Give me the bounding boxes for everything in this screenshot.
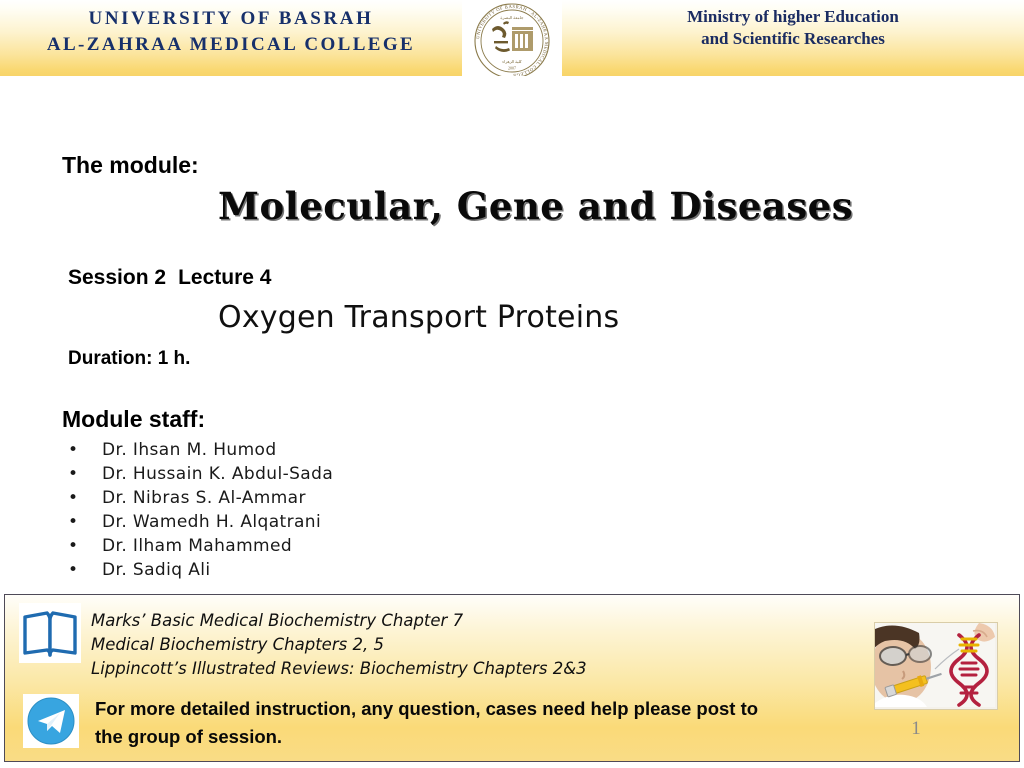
bullet-icon: • (68, 438, 78, 462)
college-seal: جامعة البصرة كلية الزهراء 2007 UNIVERSIT… (462, 0, 562, 82)
ministry-name-line2: and Scientific Researches (562, 28, 1024, 50)
list-item: •Dr. Ilham Mahammed (62, 534, 333, 558)
staff-name: Dr. Wamedh H. Alqatrani (102, 512, 321, 532)
lecture-title: Oxygen Transport Proteins (218, 300, 619, 335)
scientist-dna-photo (874, 622, 998, 710)
bullet-icon: • (68, 558, 78, 582)
module-label: The module: (62, 152, 199, 179)
ministry-name: Ministry of higher Education and Scienti… (562, 6, 1024, 50)
slide-body: The module: Molecular, Gene and Diseases… (0, 76, 1024, 594)
duration-text: Duration: 1 h. (68, 348, 190, 370)
university-name: UNIVERSITY OF BASRAH AL-ZAHRAA MEDICAL C… (0, 6, 462, 58)
bullet-icon: • (68, 510, 78, 534)
notice-line1: For more detailed instruction, any quest… (95, 695, 758, 723)
telegram-icon[interactable] (23, 694, 79, 748)
bullet-icon: • (68, 486, 78, 510)
module-title: Molecular, Gene and Diseases (218, 184, 853, 228)
session-number: Session 2 (68, 266, 166, 289)
ministry-name-line1: Ministry of higher Education (562, 6, 1024, 28)
college-seal-icon: جامعة البصرة كلية الزهراء 2007 UNIVERSIT… (472, 1, 552, 81)
list-item: •Dr. Nibras S. Al-Ammar (62, 486, 333, 510)
reference-item: Medical Biochemistry Chapters 2, 5 (91, 633, 587, 657)
staff-name: Dr. Ihsan M. Humod (102, 440, 277, 460)
list-item: •Dr. Sadiq Ali (62, 558, 333, 582)
slide-footer: Marks’ Basic Medical Biochemistry Chapte… (4, 594, 1020, 762)
reference-list: Marks’ Basic Medical Biochemistry Chapte… (91, 609, 587, 681)
svg-text:جامعة البصرة: جامعة البصرة (500, 15, 524, 20)
university-name-line2: AL-ZAHRAA MEDICAL COLLEGE (0, 32, 462, 58)
reference-item: Lippincott’s Illustrated Reviews: Bioche… (91, 657, 587, 681)
slide-number: 1 (896, 718, 936, 740)
module-staff-list: •Dr. Ihsan M. Humod •Dr. Hussain K. Abdu… (62, 438, 333, 582)
session-lecture-line: Session 2Lecture 4 (68, 266, 271, 290)
svg-text:2007: 2007 (508, 66, 516, 71)
list-item: •Dr. Ihsan M. Humod (62, 438, 333, 462)
staff-name: Dr. Ilham Mahammed (102, 536, 292, 556)
university-name-line1: UNIVERSITY OF BASRAH (0, 6, 462, 32)
bullet-icon: • (68, 462, 78, 486)
list-item: •Dr. Hussain K. Abdul-Sada (62, 462, 333, 486)
slide-header: UNIVERSITY OF BASRAH AL-ZAHRAA MEDICAL C… (0, 0, 1024, 76)
bullet-icon: • (68, 534, 78, 558)
notice-line2: the group of session. (95, 723, 758, 751)
reference-item: Marks’ Basic Medical Biochemistry Chapte… (91, 609, 587, 633)
module-staff-heading: Module staff: (62, 406, 205, 433)
lecture-number: Lecture 4 (178, 266, 271, 289)
staff-name: Dr. Nibras S. Al-Ammar (102, 488, 306, 508)
staff-name: Dr. Hussain K. Abdul-Sada (102, 464, 333, 484)
open-book-icon (19, 603, 81, 663)
notice-text: For more detailed instruction, any quest… (95, 695, 758, 751)
staff-name: Dr. Sadiq Ali (102, 560, 211, 580)
svg-text:كلية الزهراء: كلية الزهراء (502, 59, 522, 64)
list-item: •Dr. Wamedh H. Alqatrani (62, 510, 333, 534)
